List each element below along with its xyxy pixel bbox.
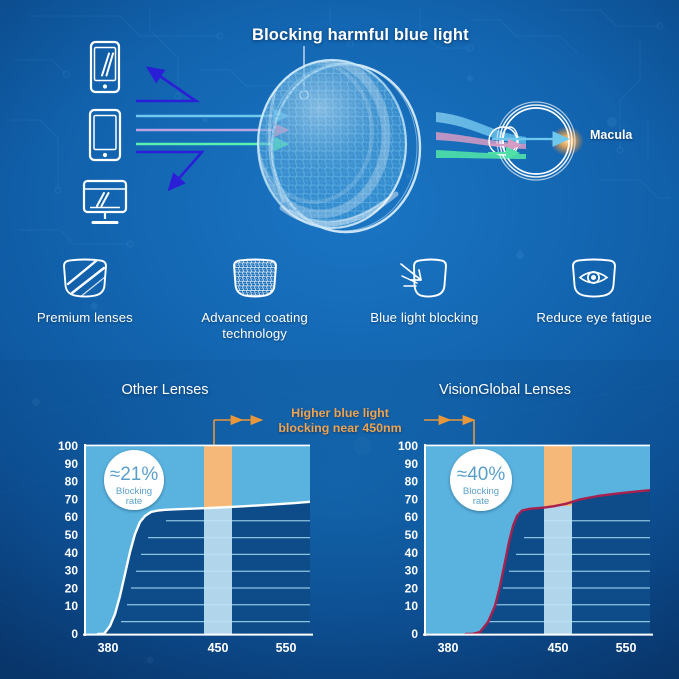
feature-label-coating: Advanced coating technology [201, 310, 307, 341]
coating-line1: Advanced coating [201, 310, 307, 325]
feature-premium-lenses: Premium lenses [0, 252, 170, 326]
coating-line2: technology [222, 326, 287, 341]
blocked-ray-upper [136, 72, 196, 101]
svg-text:30: 30 [405, 564, 419, 578]
device-icon-group [80, 40, 136, 226]
svg-text:50: 50 [65, 528, 79, 542]
infographic-page: Blocking harmful blue light [0, 0, 679, 679]
x-ticklabels-left: 380 450 550 [98, 641, 297, 655]
svg-text:90: 90 [65, 457, 79, 471]
svg-text:100: 100 [58, 439, 78, 453]
svg-text:80: 80 [405, 475, 419, 489]
hero-illustration: Blocking harmful blue light [0, 0, 679, 248]
feature-label-blocking: Blue light blocking [370, 310, 478, 326]
badge-caption-right-2: rate [473, 496, 490, 507]
eye-fatigue-icon [568, 256, 620, 300]
svg-text:70: 70 [405, 492, 419, 506]
y-ticklabels-right: 100 90 80 70 60 50 40 30 20 10 0 [398, 439, 418, 641]
feature-blue-light-blocking: Blue light blocking [340, 252, 510, 326]
svg-text:550: 550 [616, 641, 637, 655]
blocking-rate-badge-right: ≈40% Blocking rate [450, 449, 512, 511]
svg-text:10: 10 [405, 599, 419, 613]
svg-text:30: 30 [65, 564, 79, 578]
lens-illustration [248, 52, 448, 238]
chart-title-other: Other Lenses [0, 382, 330, 398]
svg-text:550: 550 [276, 641, 297, 655]
coating-mesh-icon [229, 256, 281, 300]
svg-text:70: 70 [65, 492, 79, 506]
badge-value-left: ≈21% [110, 464, 159, 485]
svg-text:380: 380 [98, 641, 119, 655]
tablet-icon [80, 108, 130, 162]
x-ticklabels-right: 380 450 550 [438, 641, 637, 655]
chart-other-lenses: 100 90 80 70 60 50 40 30 20 10 0 380 450… [8, 436, 338, 676]
svg-text:0: 0 [71, 627, 78, 641]
feature-row: Premium lenses Advanc [0, 252, 679, 360]
badge-value-right: ≈40% [457, 464, 506, 485]
svg-text:380: 380 [438, 641, 459, 655]
highlight-band-orange-left [204, 446, 232, 508]
svg-text:100: 100 [398, 439, 418, 453]
svg-text:20: 20 [405, 581, 419, 595]
svg-text:450: 450 [208, 641, 229, 655]
blocked-ray-lower [136, 152, 202, 184]
chart-vision-svg: 100 90 80 70 60 50 40 30 20 10 0 380 450… [348, 436, 678, 676]
badge-caption-left-2: rate [126, 496, 143, 507]
feature-advanced-coating: Advanced coating technology [170, 252, 340, 341]
svg-text:50: 50 [405, 528, 419, 542]
svg-text:450: 450 [548, 641, 569, 655]
svg-text:60: 60 [405, 510, 419, 524]
feature-label-premium: Premium lenses [37, 310, 133, 326]
monitor-icon [80, 178, 130, 228]
highlight-band-orange-right [544, 446, 572, 506]
chart-title-vision: VisionGlobal Lenses [340, 382, 670, 398]
eye-diagram [486, 92, 590, 192]
chart-visionglobal-lenses: 100 90 80 70 60 50 40 30 20 10 0 380 450… [348, 436, 678, 676]
chart-other-svg: 100 90 80 70 60 50 40 30 20 10 0 380 450… [8, 436, 338, 676]
chart-section: Other Lenses VisionGlobal Lenses Higher … [0, 366, 679, 679]
feature-label-fatigue: Reduce eye fatigue [536, 310, 651, 326]
svg-text:10: 10 [65, 599, 79, 613]
svg-text:40: 40 [405, 546, 419, 560]
svg-text:60: 60 [65, 510, 79, 524]
premium-lens-icon [59, 256, 111, 300]
feature-reduce-eye-fatigue: Reduce eye fatigue [509, 252, 679, 326]
macula-label: Macula [590, 128, 632, 142]
smartphone-icon [80, 40, 130, 94]
svg-text:40: 40 [65, 546, 79, 560]
blocking-rate-badge-left: ≈21% Blocking rate [104, 450, 164, 510]
page-title: Blocking harmful blue light [252, 26, 469, 45]
svg-text:90: 90 [405, 457, 419, 471]
svg-text:20: 20 [65, 581, 79, 595]
y-ticklabels-left: 100 90 80 70 60 50 40 30 20 10 0 [58, 439, 78, 641]
svg-text:80: 80 [65, 475, 79, 489]
blue-block-icon [398, 256, 450, 300]
svg-text:0: 0 [411, 627, 418, 641]
